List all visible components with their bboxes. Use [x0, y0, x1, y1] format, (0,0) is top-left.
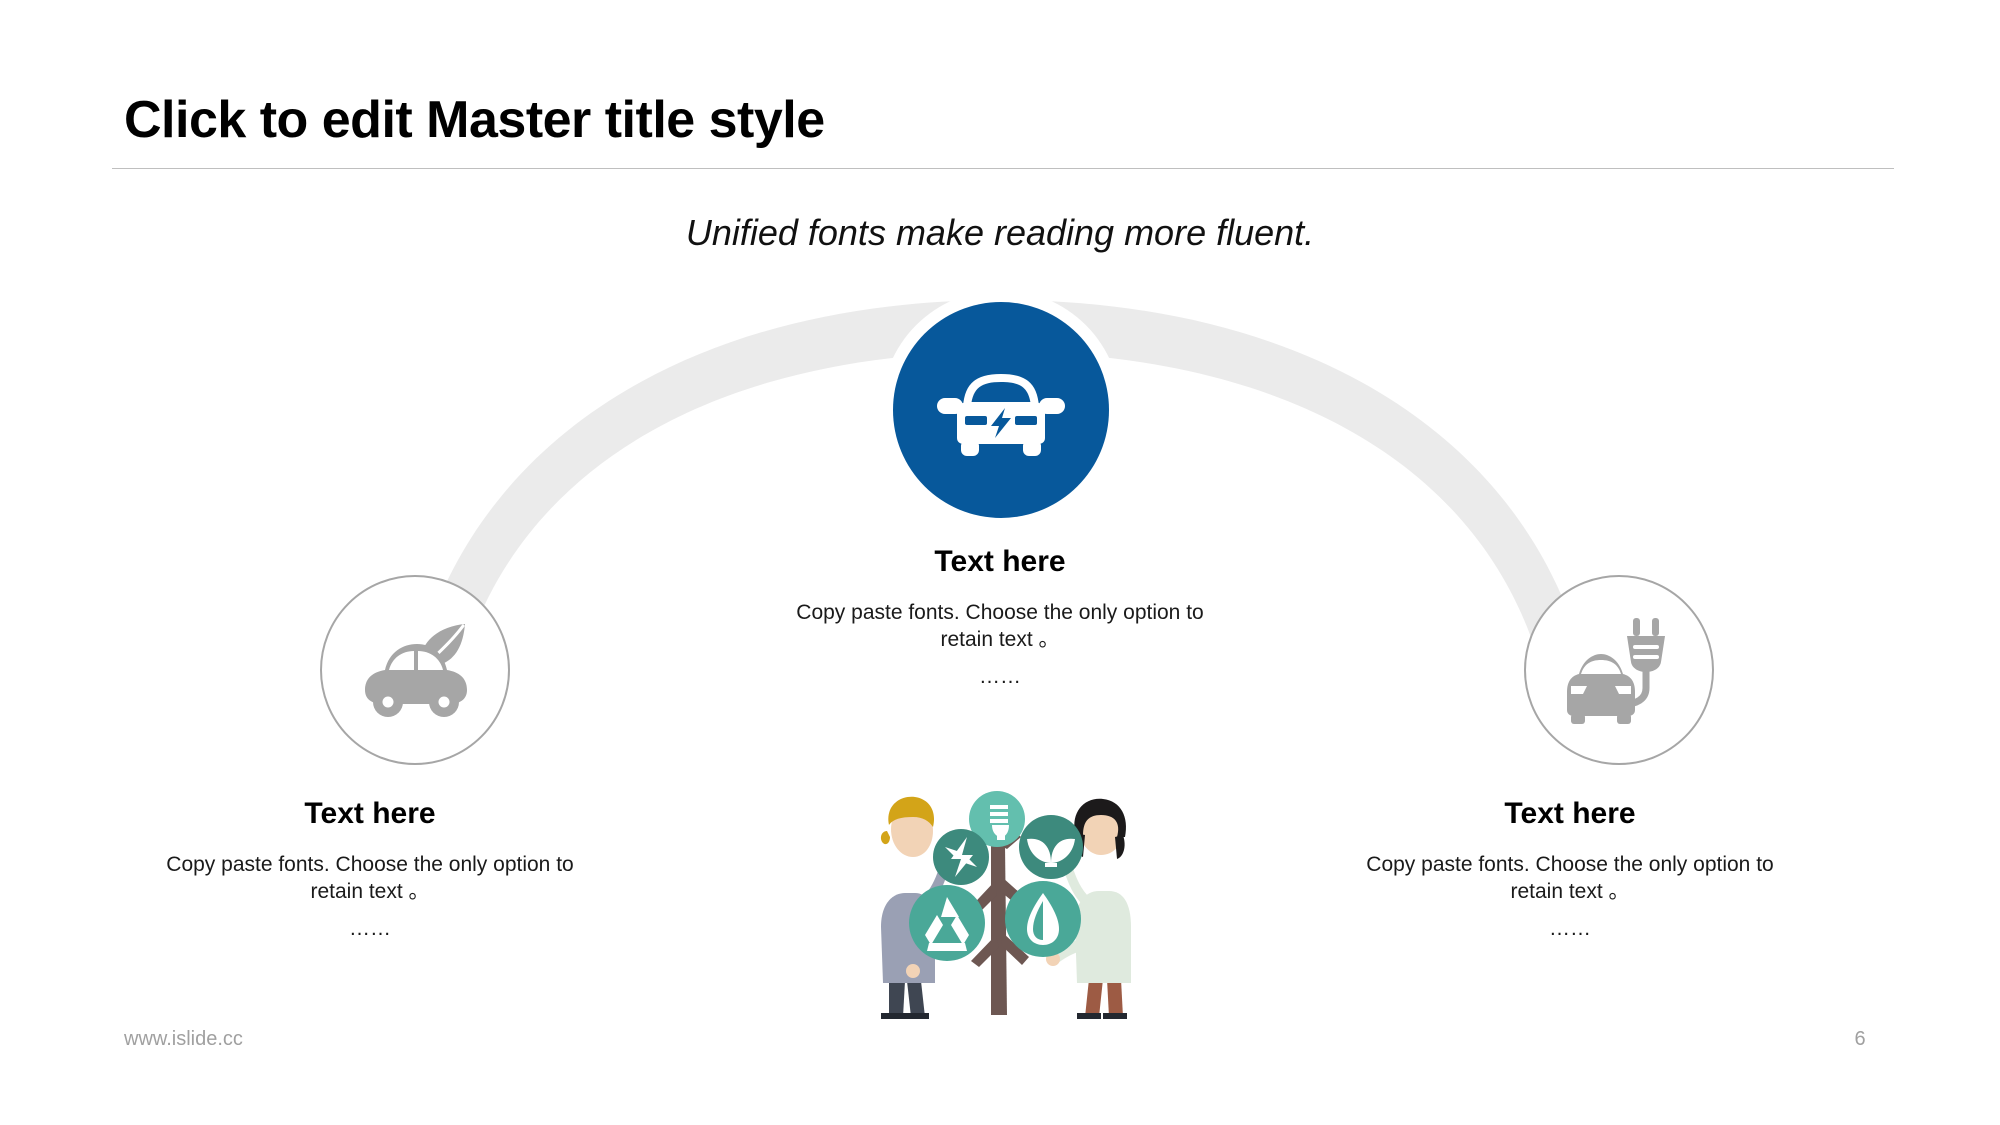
right-heading[interactable]: Text here	[1360, 797, 1780, 830]
eco-icon-leaves	[1019, 815, 1083, 879]
page-number: 6	[1830, 1028, 1890, 1051]
right-node-circle[interactable]	[1524, 575, 1714, 765]
eco-icon-water-drop	[1005, 881, 1081, 957]
electric-car-icon	[893, 302, 1109, 518]
title-divider	[112, 168, 1894, 169]
page-title[interactable]: Click to edit Master title style	[124, 90, 825, 150]
people-eco-tree-illustration	[845, 785, 1155, 1020]
slide-subtitle[interactable]: Unified fonts make reading more fluent.	[0, 212, 2000, 254]
left-body[interactable]: Copy paste fonts. Choose the only option…	[160, 852, 580, 906]
center-text-block: Text here Copy paste fonts. Choose the o…	[790, 545, 1210, 691]
left-heading[interactable]: Text here	[160, 797, 580, 830]
center-ellipsis[interactable]: ……	[790, 664, 1210, 691]
eco-icon-recycle	[909, 885, 985, 961]
left-text-block: Text here Copy paste fonts. Choose the o…	[160, 797, 580, 943]
left-node-circle[interactable]	[320, 575, 510, 765]
slide-canvas: Click to edit Master title style Unified…	[0, 0, 2000, 1125]
footer-url[interactable]: www.islide.cc	[124, 1028, 243, 1051]
center-heading[interactable]: Text here	[790, 545, 1210, 578]
right-body[interactable]: Copy paste fonts. Choose the only option…	[1360, 852, 1780, 906]
center-body[interactable]: Copy paste fonts. Choose the only option…	[790, 600, 1210, 654]
right-ellipsis[interactable]: ……	[1360, 916, 1780, 943]
car-charging-plug-icon	[1526, 577, 1712, 763]
right-text-block: Text here Copy paste fonts. Choose the o…	[1360, 797, 1780, 943]
eco-icon-energy-bolt	[933, 829, 989, 885]
eco-car-leaf-icon	[322, 577, 508, 763]
left-ellipsis[interactable]: ……	[160, 916, 580, 943]
center-node-circle[interactable]	[893, 302, 1109, 518]
